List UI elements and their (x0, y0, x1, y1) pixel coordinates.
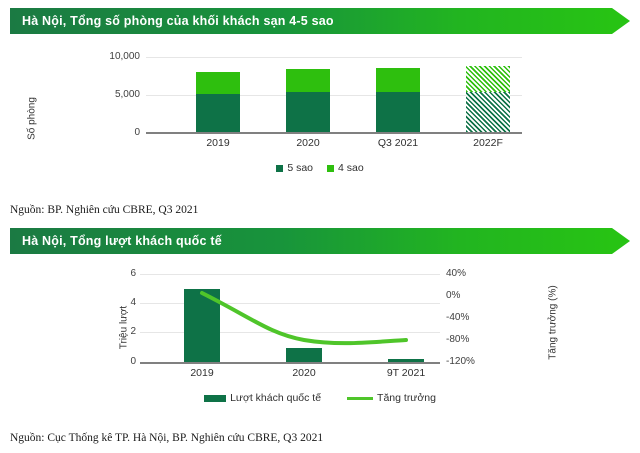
chart1-bar-2022f-5sao (466, 92, 510, 132)
chart1-bar-2020-5sao (286, 92, 330, 132)
source-hotel-rooms: Nguồn: BP. Nghiên cứu CBRE, Q3 2021 (10, 204, 198, 216)
chart1-legend-item-4sao[interactable]: 4 sao (327, 162, 364, 174)
chart1-xtick-2022f: 2022F (448, 137, 528, 149)
chart-hotel-rooms: Số phòng 10,000 5,000 0 2019 2020 Q3 202… (0, 38, 640, 188)
legend-swatch-5sao-icon (276, 165, 283, 172)
source-international-visitors: Nguồn: Cục Thống kê TP. Hà Nội, BP. Nghi… (10, 432, 323, 444)
chart1-legend-item-5sao[interactable]: 5 sao (276, 162, 313, 174)
chart2-legend-label-visitors: Lượt khách quốc tế (230, 392, 321, 404)
chart1-axis-baseline (146, 132, 522, 134)
chart1-legend-label-5sao: 5 sao (287, 162, 313, 174)
banner-title-hotel-rooms: Hà Nội, Tổng số phòng của khối khách sạn… (10, 14, 334, 28)
legend-swatch-4sao-icon (327, 165, 334, 172)
chart2-legend: Lượt khách quốc tế Tăng trưởng (0, 392, 640, 404)
section-international-visitors: Hà Nội, Tổng lượt khách quốc tế Triệu lư… (0, 228, 640, 254)
chart2-xtick-2020: 2020 (264, 367, 344, 379)
section-hotel-rooms: Hà Nội, Tổng số phòng của khối khách sạn… (0, 8, 640, 34)
chart1-bar-q32021-4sao (376, 68, 420, 92)
chart1-bar-2019-4sao (196, 72, 240, 94)
chart2-xtick-2019: 2019 (162, 367, 242, 379)
chart1-ytick-10000: 10,000 (78, 51, 140, 62)
banner-arrow-tip-icon (612, 8, 630, 34)
chart1-legend: 5 sao 4 sao (0, 162, 640, 174)
chart1-y-axis-label: Số phòng (27, 79, 38, 159)
chart1-xtick-2019: 2019 (178, 137, 258, 149)
chart-international-visitors: Triệu lượt Tăng trưởng (%) 6 4 2 0 40% 0… (0, 262, 640, 422)
chart1-bar-2019-5sao (196, 94, 240, 132)
banner-title-international-visitors: Hà Nội, Tổng lượt khách quốc tế (10, 234, 222, 248)
chart1-ytick-5000: 5,000 (78, 89, 140, 100)
banner-international-visitors: Hà Nội, Tổng lượt khách quốc tế (10, 228, 630, 254)
chart2-legend-item-growth[interactable]: Tăng trưởng (347, 392, 436, 404)
chart1-ytick-0: 0 (78, 127, 140, 138)
banner-arrow-tip-icon-2 (612, 228, 630, 254)
chart2-legend-label-growth: Tăng trưởng (377, 392, 436, 404)
chart1-bar-q32021-5sao (376, 92, 420, 132)
legend-swatch-growth-icon (347, 397, 373, 400)
chart1-xtick-2020: 2020 (268, 137, 348, 149)
chart1-bar-2020-4sao (286, 69, 330, 92)
chart2-legend-item-visitors[interactable]: Lượt khách quốc tế (204, 392, 321, 404)
banner-hotel-rooms: Hà Nội, Tổng số phòng của khối khách sạn… (10, 8, 630, 34)
chart1-bar-2022f-4sao (466, 66, 510, 92)
legend-swatch-visitors-icon (204, 395, 226, 402)
chart2-growth-line (0, 262, 640, 382)
chart1-gridline-10000 (146, 57, 522, 58)
chart2-xtick-9t2021: 9T 2021 (366, 367, 446, 379)
chart1-legend-label-4sao: 4 sao (338, 162, 364, 174)
chart1-xtick-q32021: Q3 2021 (358, 137, 438, 149)
